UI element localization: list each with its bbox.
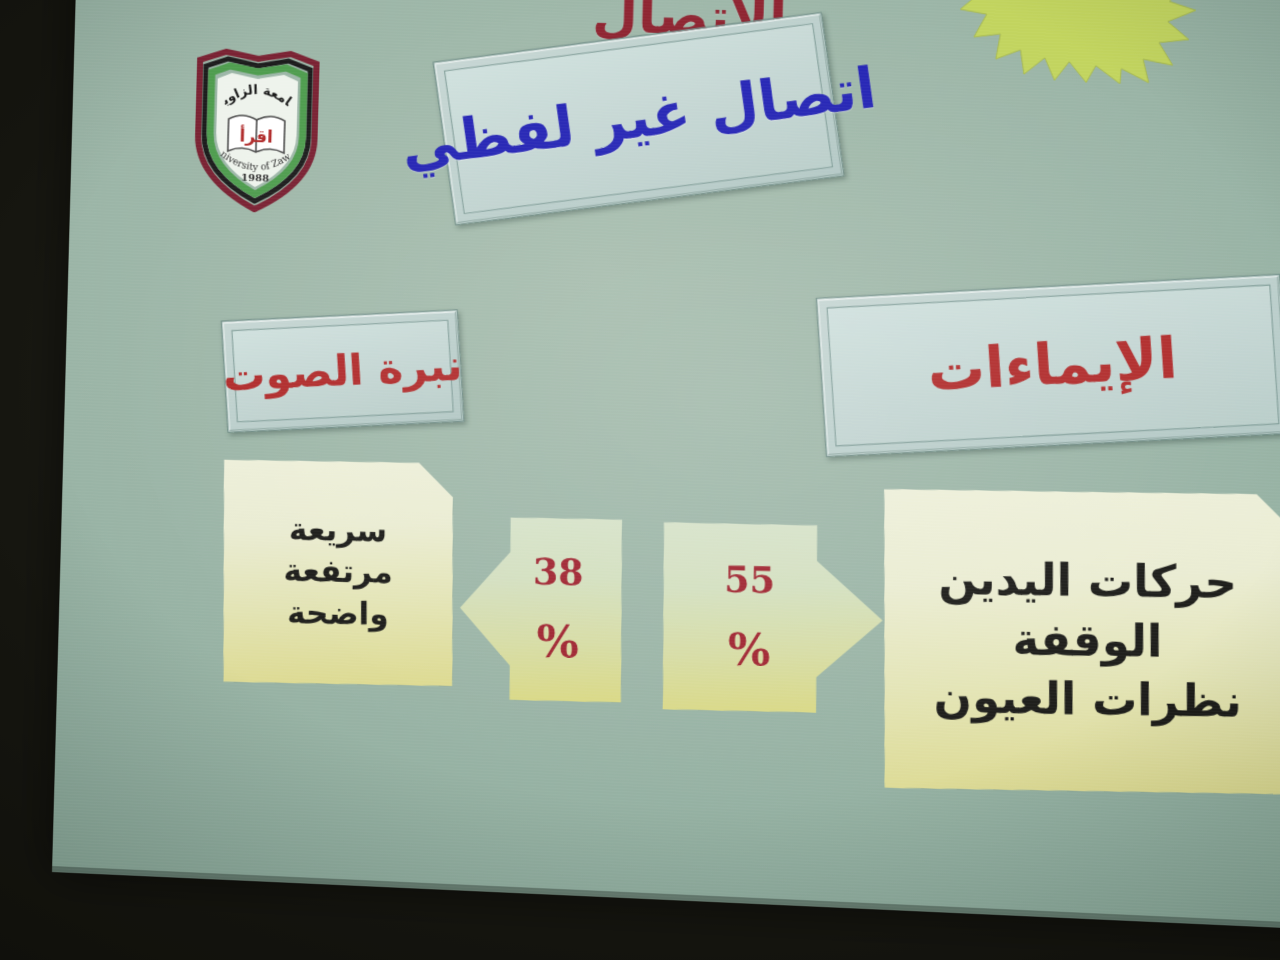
slide-canvas: الاتصال جامعة الزاوية: [52, 0, 1280, 930]
tone-note-line: سريعة: [289, 509, 387, 552]
tone-box-inner: نبرة الصوت: [231, 320, 453, 423]
university-of-zawia-logo: جامعة الزاوية اقرأ University of Zawia 1…: [178, 47, 335, 215]
title-box: اتصال غير لفظي: [433, 12, 845, 225]
tone-box-label: نبرة الصوت: [222, 344, 464, 398]
percent-left-symbol: %: [537, 620, 580, 665]
starburst-shape: [958, 0, 1198, 86]
percent-arrow-right: 55 %: [663, 522, 884, 714]
gestures-note-panel: حركات اليدين الوقفة نظرات العيون: [884, 489, 1280, 795]
gestures-box: الإيماءات: [816, 274, 1280, 457]
screenshot-stage: الاتصال جامعة الزاوية: [0, 0, 1280, 960]
gestures-note-line: الوقفة: [1013, 611, 1163, 673]
projected-slide: الاتصال جامعة الزاوية: [52, 0, 1280, 930]
gestures-box-label: الإيماءات: [926, 331, 1179, 400]
percent-arrow-left: 38 %: [459, 516, 622, 703]
percent-right-symbol: %: [728, 628, 771, 673]
gestures-note-line: حركات اليدين: [938, 550, 1237, 614]
percent-right-number: 55: [724, 562, 775, 599]
svg-text:اقرأ: اقرأ: [239, 124, 273, 147]
gestures-box-inner: الإيماءات: [827, 284, 1280, 446]
title-box-label: اتصال غير لفظي: [398, 60, 880, 176]
percent-left-number: 38: [533, 554, 584, 591]
tone-note-line: واضحة: [287, 593, 389, 636]
tone-note-line: مرتفعة: [283, 551, 392, 595]
tone-note-panel: سريعة مرتفعة واضحة: [223, 459, 453, 686]
title-box-inner: اتصال غير لفظي: [444, 23, 833, 214]
gestures-note-line: نظرات العيون: [934, 669, 1242, 733]
tone-box: نبرة الصوت: [221, 309, 465, 433]
svg-text:1988: 1988: [241, 173, 269, 185]
